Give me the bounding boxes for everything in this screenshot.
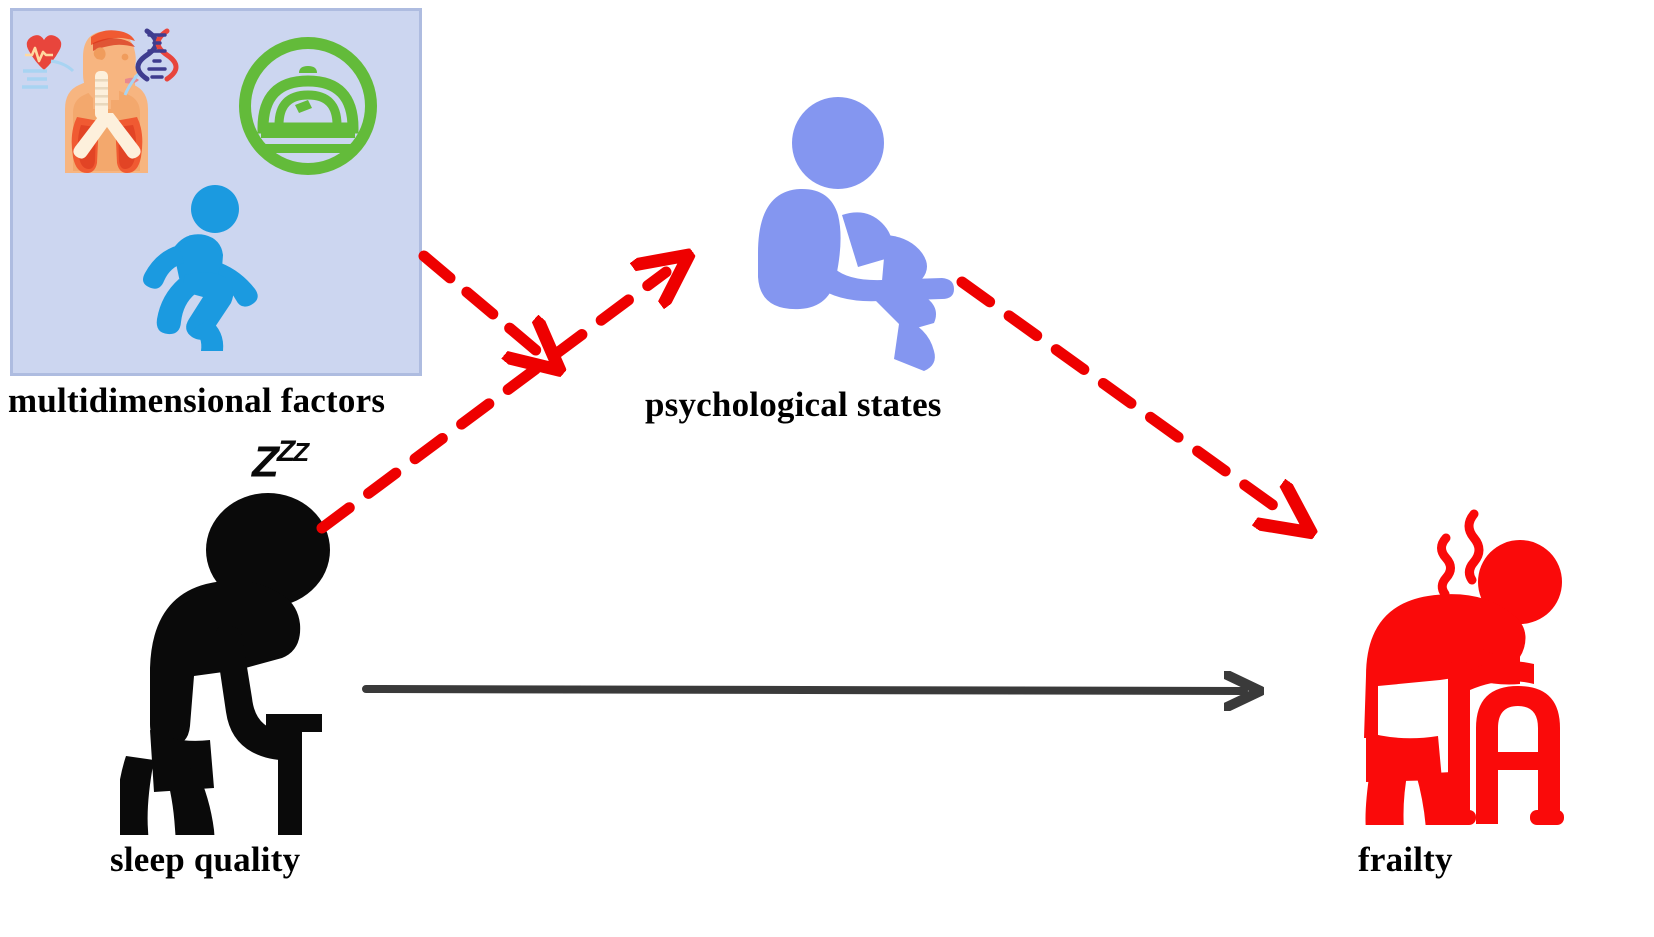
multidimensional-factors-box (10, 8, 422, 376)
human-body-health-icon (21, 21, 181, 176)
depressed-seated-person-icon (690, 95, 960, 385)
arrow-factors-to-path (424, 256, 538, 352)
label-multidimensional-factors: multidimensional factors (8, 381, 385, 421)
nutrition-food-cover-icon (235, 33, 381, 179)
arrow-sleep-to-frailty (366, 689, 1244, 691)
arrow-psychological-to-frailty (962, 282, 1288, 516)
label-frailty: frailty (1358, 840, 1453, 880)
running-exercise-icon (117, 183, 277, 351)
label-sleep-quality: sleep quality (110, 840, 300, 880)
elderly-person-with-cane-icon (120, 430, 390, 835)
label-psychological-states: psychological states (645, 385, 942, 425)
diagram-canvas: multidimensional factors psychological s… (0, 0, 1654, 937)
elderly-person-with-walker-icon (1280, 480, 1565, 825)
